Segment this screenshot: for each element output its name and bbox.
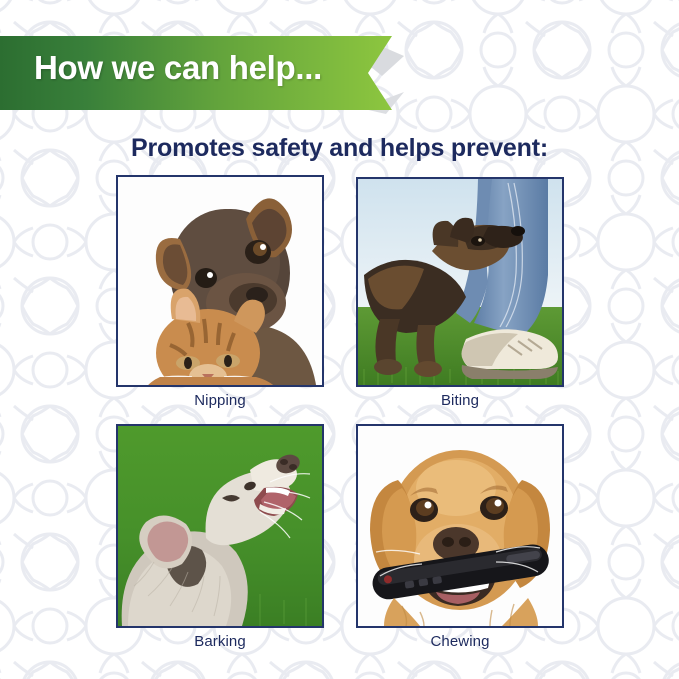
header-ribbon-banner: How we can help... <box>0 30 440 116</box>
promotional-graphic: How we can help... Promotes safety and h… <box>0 0 679 679</box>
caption-nipping: Nipping <box>116 392 324 409</box>
card-chewing[interactable]: Chewing <box>356 424 564 650</box>
banner-title: How we can help... <box>34 30 322 106</box>
card-biting[interactable]: Biting <box>356 177 564 409</box>
photo-frame-chewing <box>356 424 564 628</box>
photo-frame-nipping <box>116 175 324 387</box>
photo-frame-barking <box>116 424 324 628</box>
caption-barking: Barking <box>116 633 324 650</box>
photo-chewing <box>358 426 562 626</box>
photo-nipping <box>118 177 322 385</box>
photo-barking <box>118 426 322 626</box>
card-nipping[interactable]: Nipping <box>116 175 324 409</box>
card-barking[interactable]: Barking <box>116 424 324 650</box>
caption-chewing: Chewing <box>356 633 564 650</box>
caption-biting: Biting <box>356 392 564 409</box>
subtitle-heading: Promotes safety and helps prevent: <box>0 134 679 163</box>
photo-frame-biting <box>356 177 564 387</box>
photo-biting <box>358 179 562 385</box>
